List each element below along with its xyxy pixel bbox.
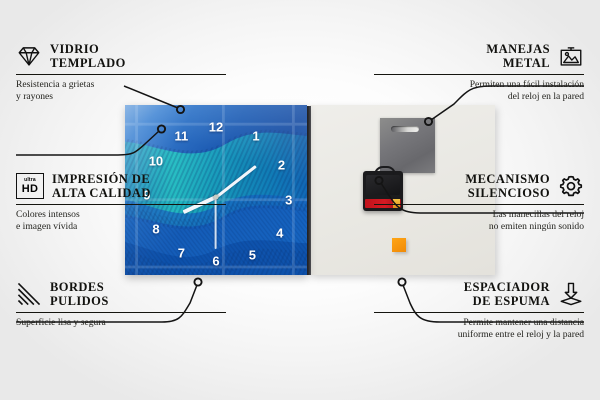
feature-header: MECANISMO SILENCIOSO	[374, 172, 584, 201]
feature-description: Superficie lisa y segura	[16, 317, 226, 329]
ultra-hd-icon: ultra HD	[16, 173, 44, 199]
feature-header: ESPACIADOR DE ESPUMA	[374, 280, 584, 309]
feature-header: MANEJAS METAL	[374, 42, 584, 71]
feature-title: MECANISMO SILENCIOSO	[465, 172, 550, 201]
feature-description: Resistencia a grietas y rayones	[16, 79, 226, 103]
feature-divider	[374, 204, 584, 206]
feature-desc-line2: del reloj en la pared	[374, 91, 584, 103]
feature-title-line1: MECANISMO	[465, 172, 550, 186]
feature-divider	[16, 312, 226, 314]
feature-title: ESPACIADOR DE ESPUMA	[464, 280, 550, 309]
feature-title: BORDES PULIDOS	[50, 280, 109, 309]
feature-vidrio-templado: VIDRIO TEMPLADO Resistencia a grietas y …	[16, 42, 226, 103]
gear-icon	[558, 173, 584, 199]
feature-desc-line1: Permite mantener una distancia	[374, 317, 584, 329]
feature-title-line2: TEMPLADO	[50, 56, 126, 70]
feature-header: VIDRIO TEMPLADO	[16, 42, 226, 71]
clock-number: 10	[149, 155, 163, 168]
clock-number: 12	[209, 121, 223, 134]
down-arrow-layers-icon	[558, 281, 584, 307]
feature-description: Las manecillas del reloj no emiten ningú…	[374, 209, 584, 233]
feature-desc-line2: uniforme entre el reloj y la pared	[374, 329, 584, 341]
feature-desc-line1: Superficie lisa y segura	[16, 317, 226, 329]
feature-description: Colores intensos e imagen vívida	[16, 209, 226, 233]
feature-manejas-metal: MANEJAS METAL Permiten una fácil instala…	[374, 42, 584, 103]
feature-desc-line1: Las manecillas del reloj	[374, 209, 584, 221]
clock-number: 3	[285, 194, 292, 207]
feature-title-line1: IMPRESIÓN DE	[52, 172, 151, 186]
feature-desc-line2: y rayones	[16, 91, 226, 103]
feature-description: Permiten una fácil instalación del reloj…	[374, 79, 584, 103]
foam-spacer	[392, 238, 406, 252]
feature-title-line2: PULIDOS	[50, 294, 109, 308]
feature-header: ultra HD IMPRESIÓN DE ALTA CALIDAD	[16, 172, 226, 201]
clock-number: 6	[212, 255, 219, 268]
picture-frame-icon	[558, 43, 584, 69]
clock-number: 2	[278, 158, 285, 171]
feature-title: MANEJAS METAL	[486, 42, 550, 71]
feature-title-line2: METAL	[486, 56, 550, 70]
feature-title-line1: ESPACIADOR	[464, 280, 550, 294]
feature-title-line2: DE ESPUMA	[464, 294, 550, 308]
feature-espaciador-de-espuma: ESPACIADOR DE ESPUMA Permite mantener un…	[374, 280, 584, 341]
feature-title-line1: MANEJAS	[486, 42, 550, 56]
feature-title-line1: BORDES	[50, 280, 109, 294]
feature-divider	[374, 74, 584, 76]
feature-title: IMPRESIÓN DE ALTA CALIDAD	[52, 172, 151, 201]
feature-impresion-alta-calidad: ultra HD IMPRESIÓN DE ALTA CALIDAD Color…	[16, 172, 226, 233]
feature-description: Permite mantener una distancia uniforme …	[374, 317, 584, 341]
feature-divider	[16, 74, 226, 76]
feature-mecanismo-silencioso: MECANISMO SILENCIOSO Las manecillas del …	[374, 172, 584, 233]
feature-desc-line1: Permiten una fácil instalación	[374, 79, 584, 91]
ultra-hd-icon-large-text: HD	[22, 184, 39, 195]
hanger-keyhole-slot	[391, 126, 419, 132]
feature-header: BORDES PULIDOS	[16, 280, 226, 309]
feature-title: VIDRIO TEMPLADO	[50, 42, 126, 71]
clock-number: 5	[249, 248, 256, 261]
feature-title-line2: SILENCIOSO	[465, 186, 550, 200]
feature-title-line1: VIDRIO	[50, 42, 126, 56]
feature-bordes-pulidos: BORDES PULIDOS Superficie lisa y segura	[16, 280, 226, 329]
feature-desc-line2: no emiten ningún sonido	[374, 221, 584, 233]
feature-desc-line2: e imagen vívida	[16, 221, 226, 233]
feature-title-line2: ALTA CALIDAD	[52, 186, 151, 200]
feature-divider	[374, 312, 584, 314]
feature-desc-line1: Resistencia a grietas	[16, 79, 226, 91]
clock-number: 1	[252, 129, 259, 142]
clock-number: 11	[175, 129, 189, 142]
clock-number: 7	[178, 246, 185, 259]
feature-divider	[16, 204, 226, 206]
clock-number: 4	[276, 226, 283, 239]
diagonal-lines-icon	[16, 281, 42, 307]
infographic-canvas: 12 1 2 3 4 5 6 7 8 9 10 11	[0, 0, 600, 400]
feature-desc-line1: Colores intensos	[16, 209, 226, 221]
diamond-icon	[16, 43, 42, 69]
metal-hanger-plate	[380, 118, 435, 173]
